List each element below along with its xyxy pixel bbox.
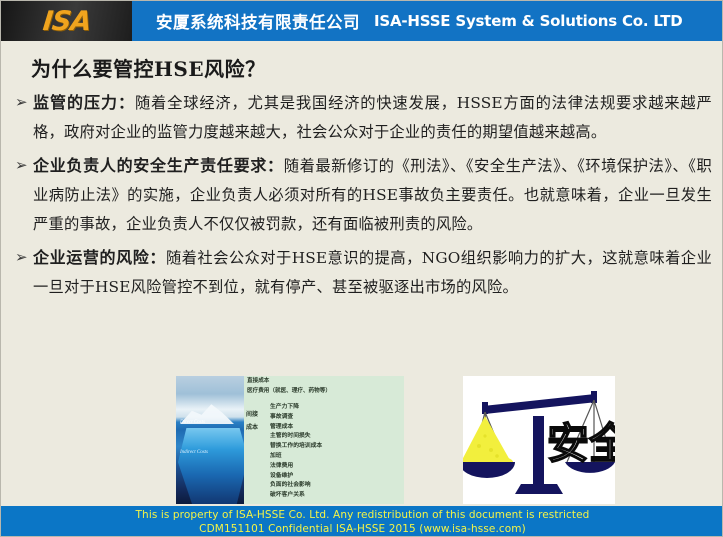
bullet-text-block: 企业负责人的安全生产责任要求：随着最新修订的《刑法》、《安全生产法》、《环境保护… bbox=[33, 151, 712, 239]
iceberg-below-water-shape bbox=[178, 428, 248, 504]
iceberg-cost-table: 直接成本 医疗费用（就医、理疗、药物等） 间接成本 生产力下降事故调查管理成本主… bbox=[244, 376, 404, 504]
company-name-cn: 安厦系统科技有限责任公司 bbox=[156, 9, 360, 33]
indirect-cost-item: 管理成本 bbox=[270, 423, 398, 433]
bullet-item-operational-risk: ➢ 企业运营的风险：随着社会公众对于HSE意识的提高，NGO组织影响力的扩大，这… bbox=[15, 243, 712, 302]
bullet-text-block: 企业运营的风险：随着社会公众对于HSE意识的提高，NGO组织影响力的扩大，这就意… bbox=[33, 243, 712, 302]
company-name-en: ISA-HSSE System & Solutions Co. LTD bbox=[374, 12, 683, 30]
direct-cost-items: 医疗费用（就医、理疗、药物等） bbox=[247, 387, 402, 397]
bullet-lead-label: 监管的压力： bbox=[33, 93, 135, 112]
bullet-body-text: 随着全球经济，尤其是我国经济的快速发展，HSSE方面的法律法规要求越来越严格，政… bbox=[33, 94, 712, 141]
bullet-lead-label: 企业负责人的安全生产责任要求： bbox=[33, 156, 284, 175]
arrow-bullet-icon: ➢ bbox=[15, 88, 33, 117]
page-title: 为什么要管控HSE风险？ bbox=[31, 53, 712, 82]
indirect-cost-item: 设备维护 bbox=[270, 472, 398, 482]
scale-safety-text: 安全 bbox=[547, 419, 615, 468]
arrow-bullet-icon: ➢ bbox=[15, 151, 33, 180]
arrow-bullet-icon: ➢ bbox=[15, 243, 33, 272]
footer-copyright-line: This is property of ISA-HSSE Co. Ltd. An… bbox=[1, 508, 723, 522]
iceberg-photo: Direct Costs Indirect Costs bbox=[176, 376, 254, 504]
indirect-cost-item: 主管的时间损失 bbox=[270, 432, 398, 442]
figure-row: Direct Costs Indirect Costs 直接成本 医疗费用（就医… bbox=[1, 376, 723, 506]
bullet-lead-label: 企业运营的风险： bbox=[33, 248, 166, 267]
iceberg-indirect-costs-label: Indirect Costs bbox=[180, 450, 208, 455]
indirect-cost-item: 加班 bbox=[270, 452, 398, 462]
logo-area: ISA bbox=[1, 1, 132, 41]
bullet-item-regulatory-pressure: ➢ 监管的压力：随着全球经济，尤其是我国经济的快速发展，HSSE方面的法律法规要… bbox=[15, 88, 712, 147]
direct-cost-heading: 直接成本 bbox=[247, 377, 402, 387]
bullet-text-block: 监管的压力：随着全球经济，尤其是我国经济的快速发展，HSSE方面的法律法规要求越… bbox=[33, 88, 712, 147]
slide-header: ISA 安厦系统科技有限责任公司 ISA-HSSE System & Solut… bbox=[1, 1, 723, 41]
footer-confidential-line: CDM151101 Confidential ISA-HSSE 2015 (ww… bbox=[1, 522, 723, 536]
iceberg-indirect-side-label: 间接成本 bbox=[246, 408, 258, 434]
indirect-cost-item: 破坏客户关系 bbox=[270, 491, 398, 501]
indirect-cost-item: 负面的社会影响 bbox=[270, 481, 398, 491]
indirect-cost-item: 生产力下降 bbox=[270, 403, 398, 413]
bullet-item-executive-responsibility: ➢ 企业负责人的安全生产责任要求：随着最新修订的《刑法》、《安全生产法》、《环境… bbox=[15, 151, 712, 239]
iceberg-direct-costs-label: Direct Costs bbox=[180, 420, 205, 425]
slide-canvas: ISA 安厦系统科技有限责任公司 ISA-HSSE System & Solut… bbox=[0, 0, 723, 537]
balance-scale-icon: 安全 bbox=[463, 376, 615, 504]
iceberg-cost-figure: Direct Costs Indirect Costs 直接成本 医疗费用（就医… bbox=[176, 376, 404, 504]
header-title-bar: 安厦系统科技有限责任公司 ISA-HSSE System & Solutions… bbox=[132, 1, 723, 41]
balance-scale-figure: 安全 bbox=[463, 376, 615, 504]
iceberg-indirect-cost-list: 生产力下降事故调查管理成本主管的时间损失替换工作的培训成本加班法律费用设备维护负… bbox=[270, 403, 398, 501]
iceberg-direct-cost-block: 直接成本 医疗费用（就医、理疗、药物等） bbox=[247, 377, 402, 396]
indirect-cost-item: 法律费用 bbox=[270, 462, 398, 472]
slide-footer: This is property of ISA-HSSE Co. Ltd. An… bbox=[1, 506, 723, 537]
isa-logo-icon: ISA bbox=[41, 6, 92, 37]
indirect-cost-item: 事故调查 bbox=[270, 413, 398, 423]
indirect-cost-item: 替换工作的培训成本 bbox=[270, 442, 398, 452]
